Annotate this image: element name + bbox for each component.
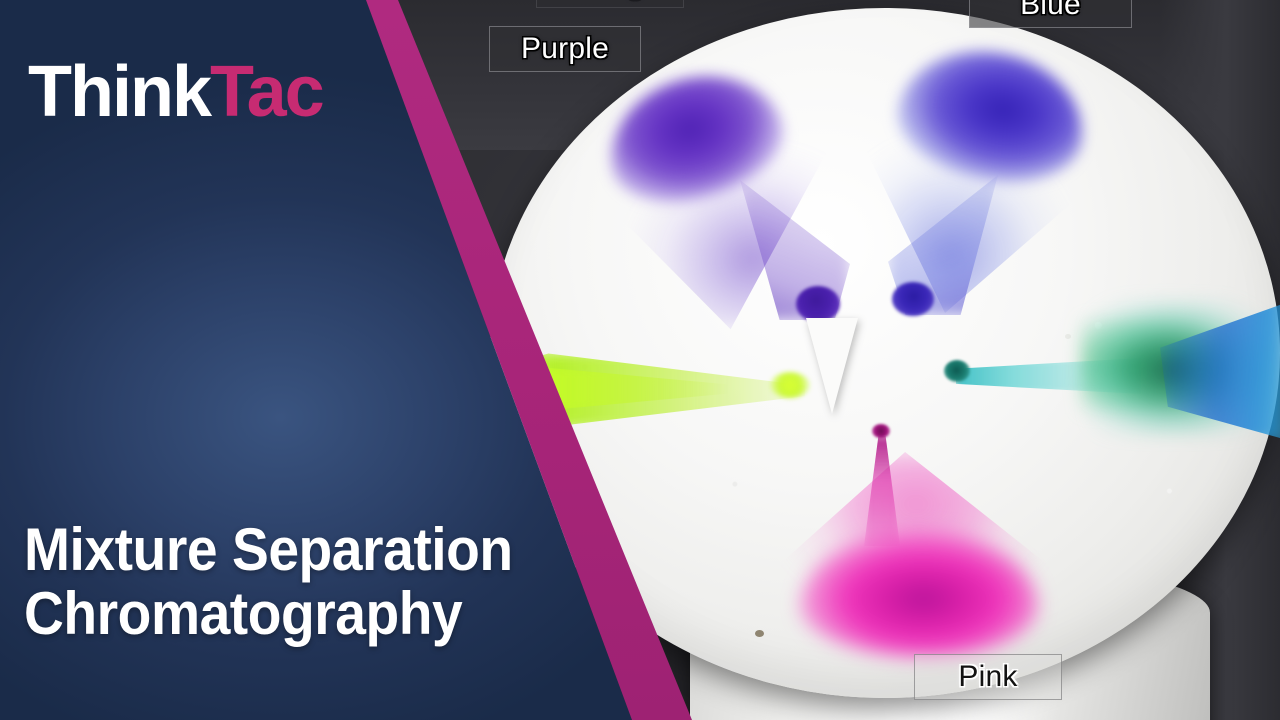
title-line-2: Chromatography bbox=[24, 582, 576, 646]
title-line-1: Mixture Separation bbox=[24, 518, 576, 582]
logo-think-text: Think bbox=[28, 52, 210, 132]
paper-wick bbox=[806, 318, 858, 414]
label-clipped: Orange bbox=[536, 0, 684, 8]
label-pink: Pink bbox=[914, 654, 1062, 700]
video-thumbnail: Orange Purple Blue Pink ThinkTac Mixture… bbox=[0, 0, 1280, 720]
logo-tac-text: Tac bbox=[210, 52, 323, 132]
label-blue: Blue bbox=[969, 0, 1132, 28]
paper-speck bbox=[755, 630, 764, 637]
thinktac-logo: ThinkTac bbox=[28, 56, 323, 128]
paper-speck bbox=[1065, 334, 1071, 339]
label-purple: Purple bbox=[489, 26, 641, 72]
page-title: Mixture Separation Chromatography bbox=[24, 518, 576, 645]
